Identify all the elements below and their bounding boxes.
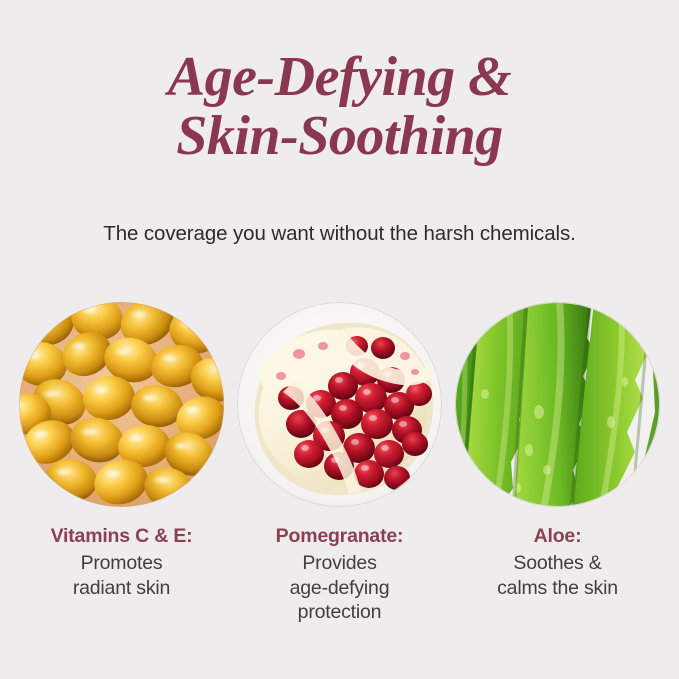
ingredient-description: Provides age-defying protection [236,551,443,625]
description-line: Promotes [18,551,225,576]
headline-line-2: Skin-Soothing [30,107,650,166]
ingredient-columns: Vitamins C & E: Promotes radiant skin [0,302,679,625]
subtitle: The coverage you want without the harsh … [103,222,575,246]
ingredient-name: Aloe: [454,524,661,549]
description-line: calms the skin [454,576,661,601]
ingredient-name: Vitamins C & E: [18,524,225,549]
description-line: Soothes & [454,551,661,576]
ingredient-name: Pomegranate: [236,524,443,549]
aloe-vera-photo [455,302,660,507]
vitamin-capsules-photo [19,302,224,507]
ingredient-caption: Aloe: Soothes & calms the skin [454,524,661,601]
ingredient-description: Soothes & calms the skin [454,551,661,600]
ingredient-caption: Pomegranate: Provides age-defying protec… [236,524,443,625]
ingredient-column-pomegranate: Pomegranate: Provides age-defying protec… [236,302,443,625]
headline-line-1: Age-Defying & [30,48,650,107]
ingredient-column-aloe: Aloe: Soothes & calms the skin [454,302,661,625]
description-line: radiant skin [18,576,225,601]
page-title: Age-Defying & Skin-Soothing [30,48,650,167]
pomegranate-photo [237,302,442,507]
ingredient-description: Promotes radiant skin [18,551,225,600]
ingredient-column-vitamins: Vitamins C & E: Promotes radiant skin [18,302,225,625]
description-line: protection [236,600,443,625]
ingredient-caption: Vitamins C & E: Promotes radiant skin [18,524,225,601]
product-benefits-infographic: Age-Defying & Skin-Soothing The coverage… [0,0,679,679]
description-line: age-defying [236,576,443,601]
description-line: Provides [236,551,443,576]
